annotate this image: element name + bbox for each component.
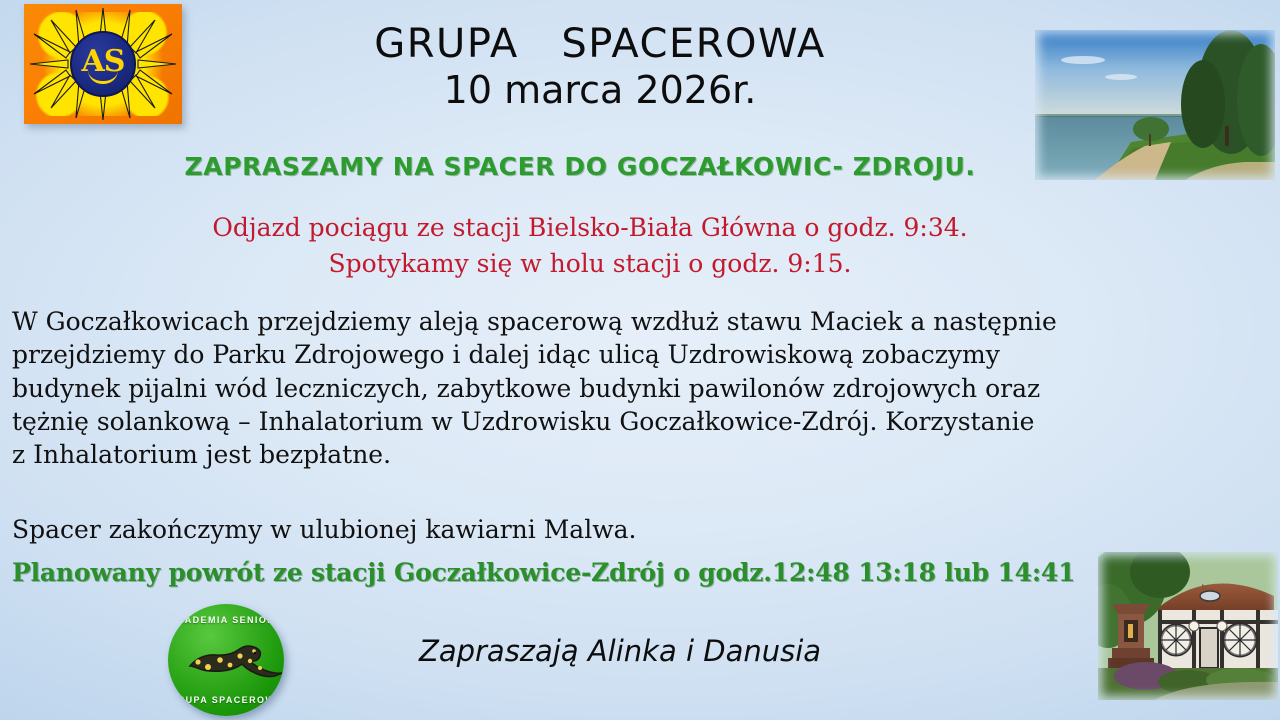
spa-pavilion-photo — [1098, 552, 1278, 700]
as-monogram-disc: AS — [70, 31, 136, 97]
akademia-seniora-sun-logo: AS — [24, 4, 182, 124]
grupa-spacerowa-logo: AKADEMIA SENIORA GRUPA SPACEROWA — [168, 604, 284, 716]
title-line-date: 10 marca 2026r. — [200, 69, 1000, 112]
smile-icon — [88, 70, 118, 84]
closing-cafe-line: Spacer zakończymy w ulubionej kawiarni M… — [12, 515, 636, 544]
description-paragraph: W Goczałkowicach przejdziemy aleją space… — [12, 305, 1142, 471]
return-schedule-line: Planowany powrót ze stacji Goczałkowice-… — [12, 558, 1075, 587]
departure-line-train: Odjazd pociągu ze stacji Bielsko-Biała G… — [90, 210, 1090, 246]
invitation-line: ZAPRASZAMY NA SPACER DO GOCZAŁKOWIC- ZDR… — [120, 152, 1040, 181]
spa-photo-art — [1098, 552, 1278, 700]
description-line: budynek pijalni wód leczniczych, zabytko… — [12, 372, 1142, 405]
logo-green-disc: AKADEMIA SENIORA GRUPA SPACEROWA — [168, 604, 284, 716]
lake-shore-photo — [1035, 30, 1275, 180]
departure-info: Odjazd pociągu ze stacji Bielsko-Biała G… — [90, 210, 1090, 283]
departure-line-meeting: Spotykamy się w holu stacji o godz. 9:15… — [90, 246, 1090, 282]
description-line: W Goczałkowicach przejdziemy aleją space… — [12, 305, 1142, 338]
salamander-icon — [168, 604, 284, 716]
title-line-group-name: GRUPA SPACEROWA — [200, 22, 1000, 67]
poster-canvas: AS GRUPA SPACEROWA 10 marca 2026r. — [0, 0, 1280, 720]
description-line: z Inhalatorium jest bezpłatne. — [12, 438, 1142, 471]
poster-title: GRUPA SPACEROWA 10 marca 2026r. — [200, 22, 1000, 111]
lake-photo-art — [1035, 30, 1275, 180]
description-line: przejdziemy do Parku Zdrojowego i dalej … — [12, 338, 1142, 371]
signature-line: Zapraszają Alinka i Danusia — [340, 634, 900, 668]
description-line: tężnię solankową – Inhalatorium w Uzdrow… — [12, 405, 1142, 438]
